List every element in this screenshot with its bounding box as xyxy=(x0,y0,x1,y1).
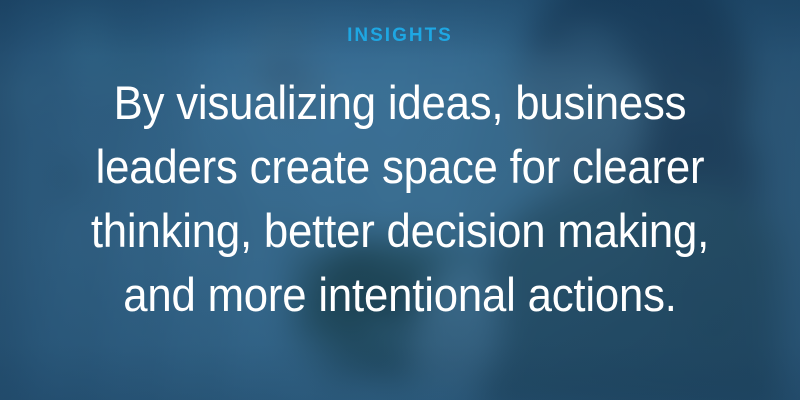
eyebrow-label: INSIGHTS xyxy=(347,26,453,45)
card-content: INSIGHTS By visualizing ideas, business … xyxy=(0,0,800,400)
headline-line-2: leaders create space for clearer xyxy=(37,135,762,199)
headline-line-3: thinking, better decision making, xyxy=(37,199,762,263)
quote-card: INSIGHTS By visualizing ideas, business … xyxy=(0,0,800,400)
headline-line-4: and more intentional actions. xyxy=(37,263,762,327)
headline: By visualizing ideas, business leaders c… xyxy=(10,71,790,327)
headline-line-1: By visualizing ideas, business xyxy=(37,71,762,135)
